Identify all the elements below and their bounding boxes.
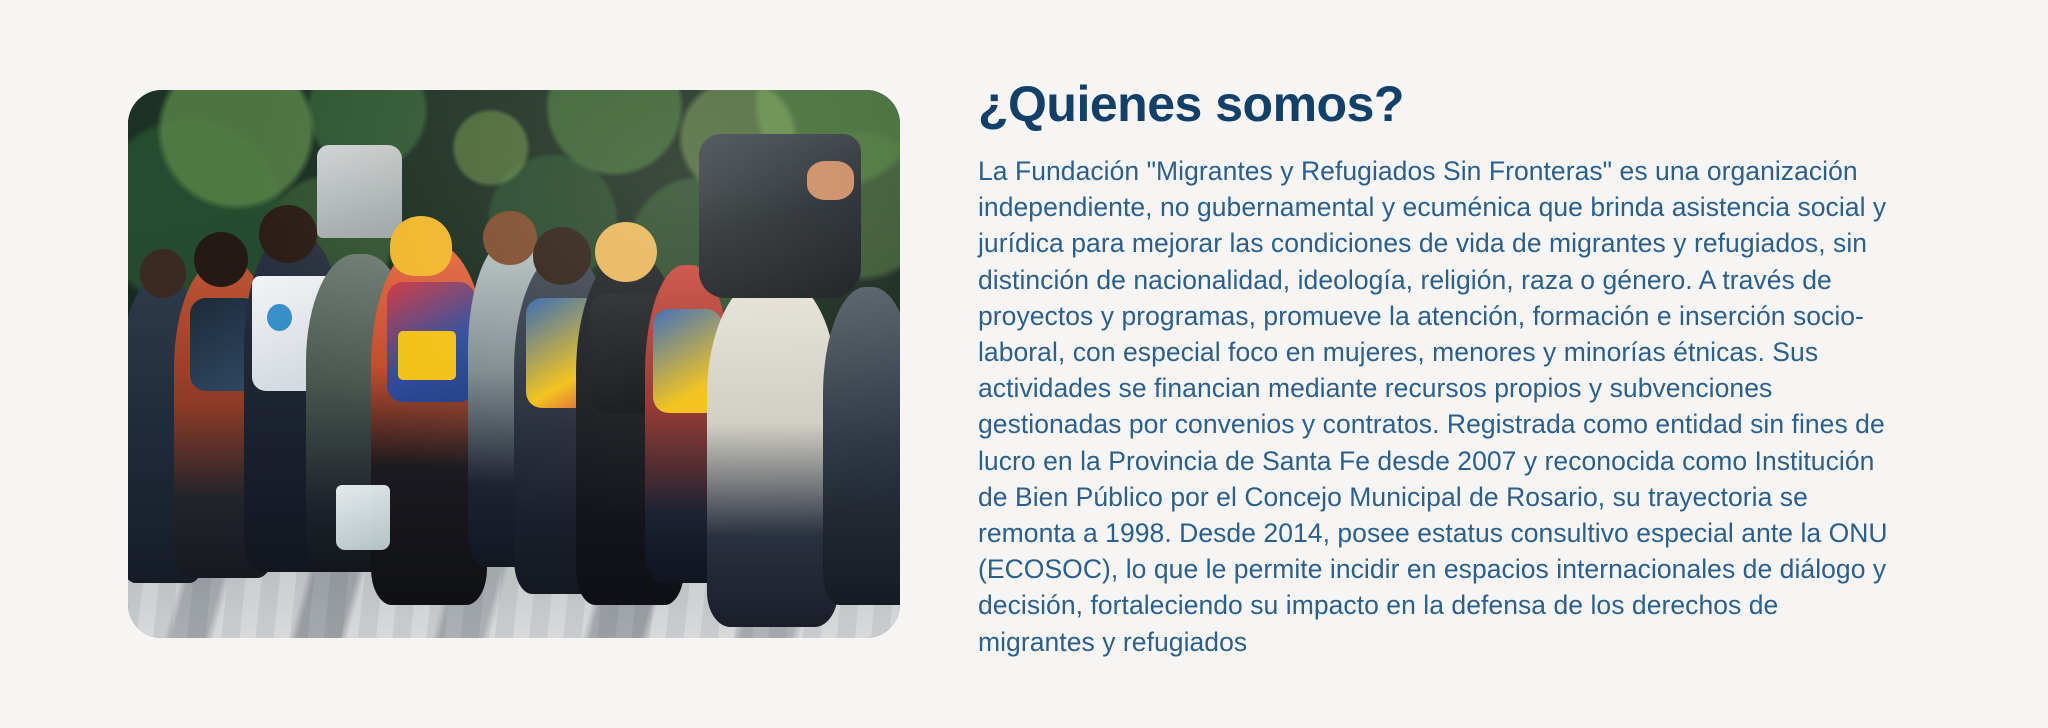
about-paragraph: La Fundación "Migrantes y Refugiados Sin… — [978, 153, 1890, 660]
photo-sunlight-overlay — [128, 90, 900, 638]
photo-migrant-caravan — [128, 90, 900, 638]
photo-frame — [128, 90, 900, 638]
page-title: ¿Quienes somos? — [978, 78, 1890, 131]
about-text-column: ¿Quienes somos? La Fundación "Migrantes … — [978, 78, 1890, 660]
about-us-section: ¿Quienes somos? La Fundación "Migrantes … — [0, 0, 2048, 728]
about-photo-container — [128, 90, 900, 638]
